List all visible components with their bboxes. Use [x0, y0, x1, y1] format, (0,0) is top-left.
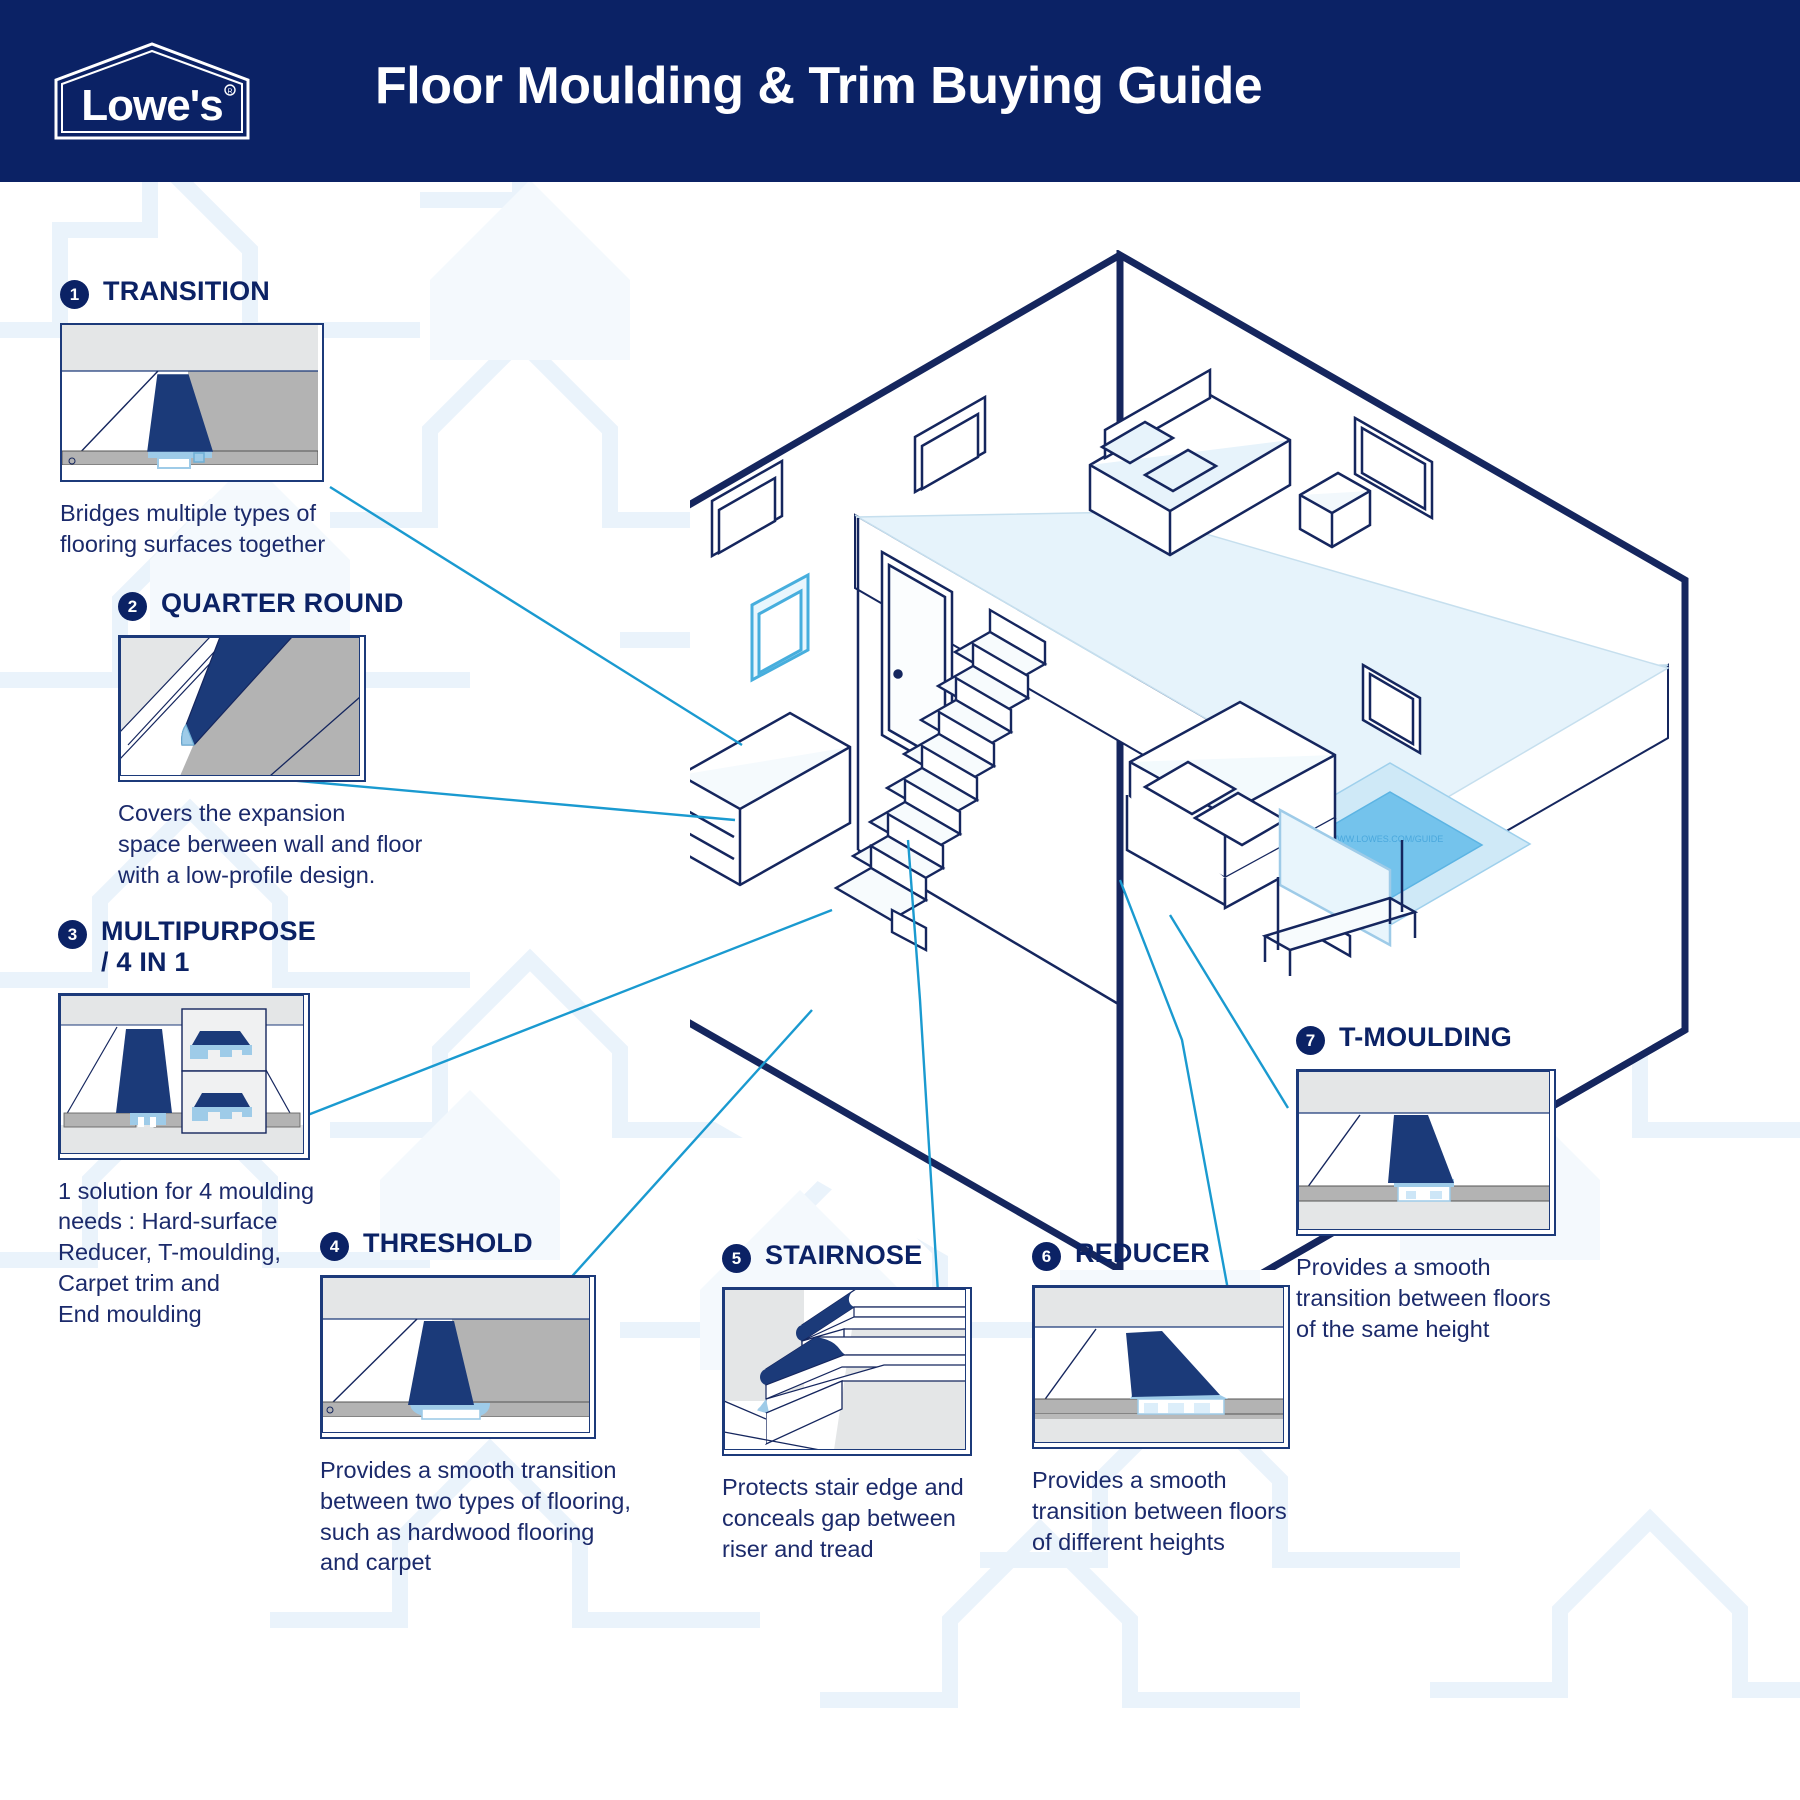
callout-title-1: TRANSITION — [103, 276, 270, 307]
callout-title-3: MULTIPURPOSE / 4 IN 1 — [101, 916, 316, 979]
figure-threshold — [320, 1275, 596, 1439]
callout-title-2: QUARTER ROUND — [161, 588, 404, 619]
svg-text:R: R — [227, 89, 232, 96]
callout-desc-1: Bridges multiple types of flooring surfa… — [60, 498, 390, 560]
callout-desc-7: Provides a smooth transition between flo… — [1296, 1252, 1596, 1344]
callout-desc-4: Provides a smooth transition between two… — [320, 1455, 700, 1578]
callout-desc-2: Covers the expansion space berween wall … — [118, 798, 458, 890]
figure-t-moulding — [1296, 1069, 1556, 1236]
figure-reducer — [1032, 1285, 1290, 1449]
lowes-logo: Lowe's R — [52, 40, 252, 142]
figure-multipurpose — [58, 993, 310, 1160]
callout-number-4: 4 — [320, 1232, 349, 1261]
page-header: Lowe's R Floor Moulding & Trim Buying Gu… — [0, 0, 1800, 182]
callout-desc-6: Provides a smooth transition between flo… — [1032, 1465, 1332, 1557]
figure-transition — [60, 323, 324, 482]
callout-quarter-round: 2 QUARTER ROUND Covers the expansion spa… — [118, 588, 458, 890]
callout-title-5: STAIRNOSE — [765, 1240, 922, 1271]
callout-number-6: 6 — [1032, 1242, 1061, 1271]
callout-desc-5: Protects stair edge and conceals gap bet… — [722, 1472, 1022, 1564]
callout-title-4: THRESHOLD — [363, 1228, 533, 1259]
callout-number-3: 3 — [58, 920, 87, 949]
figure-quarter-round — [118, 635, 366, 782]
svg-text:Lowe's: Lowe's — [81, 81, 222, 130]
callout-t-moulding: 7 T-MOULDING Provides a smooth transitio… — [1296, 1022, 1596, 1344]
callout-transition: 1 TRANSITION Bridges multiple types of f… — [60, 276, 390, 560]
callout-number-5: 5 — [722, 1244, 751, 1273]
callout-number-7: 7 — [1296, 1026, 1325, 1055]
figure-stairnose — [722, 1287, 972, 1456]
callout-title-6: REDUCER — [1075, 1238, 1210, 1269]
callout-title-7: T-MOULDING — [1339, 1022, 1512, 1053]
page-title: Floor Moulding & Trim Buying Guide — [375, 56, 1262, 116]
callout-threshold: 4 THRESHOLD Provides a smooth transition… — [320, 1228, 700, 1578]
callout-number-1: 1 — [60, 280, 89, 309]
rug-watermark-text: WWW.LOWES.COM/GUIDE — [1329, 834, 1444, 844]
callout-number-2: 2 — [118, 592, 147, 621]
infographic-page: Lowe's R Floor Moulding & Trim Buying Gu… — [0, 0, 1800, 1800]
callout-reducer: 6 REDUCER Provides a smoot — [1032, 1238, 1332, 1557]
callout-stairnose: 5 STAIRNOSE — [722, 1240, 1022, 1564]
